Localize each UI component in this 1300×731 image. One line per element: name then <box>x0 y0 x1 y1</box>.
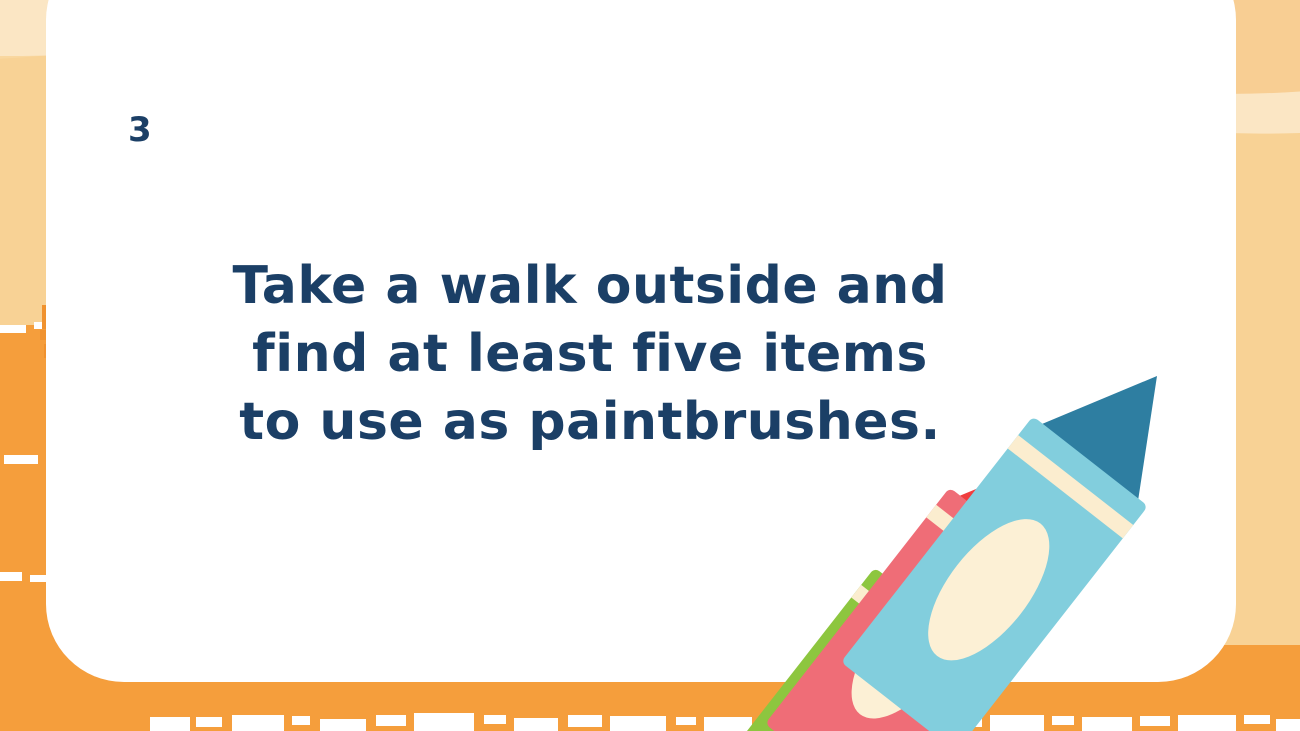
slide-headline: Take a walk outside and find at least fi… <box>150 252 1030 456</box>
slide-canvas: 3 Take a walk outside and find at least … <box>0 0 1300 731</box>
slide-number: 3 <box>128 110 152 150</box>
paint-edge-texture-bottom <box>0 689 1300 731</box>
